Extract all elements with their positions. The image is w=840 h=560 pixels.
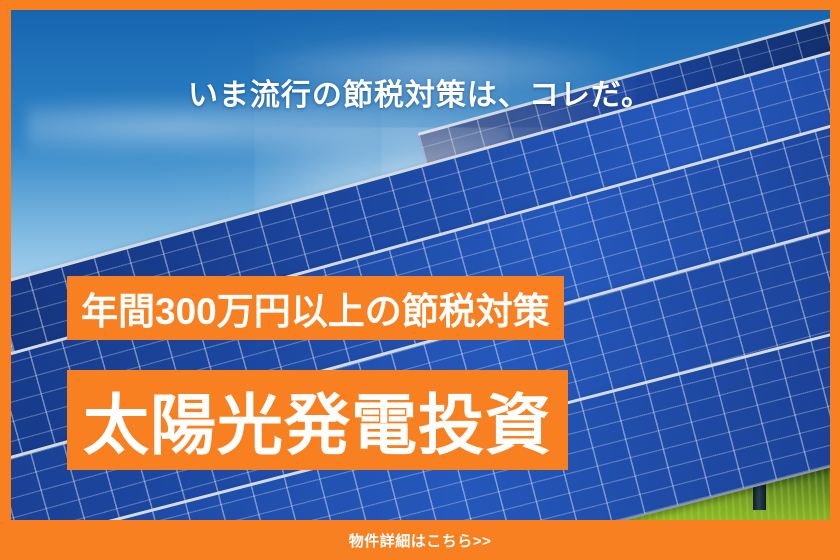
savings-highlight-band: 年間300万円以上の節税対策 — [67, 276, 564, 340]
banner-headline: いま流行の節税対策は、コレだ。 — [0, 70, 840, 114]
frame-border-top — [0, 0, 840, 10]
cta-bar[interactable]: 物件詳細はこちら>> — [0, 520, 840, 560]
solar-investment-banner: いま流行の節税対策は、コレだ。 年間300万円以上の節税対策 太陽光発電投資 物… — [0, 0, 840, 560]
cta-label: 物件詳細はこちら>> — [349, 530, 492, 551]
main-title-band: 太陽光発電投資 — [67, 370, 568, 470]
